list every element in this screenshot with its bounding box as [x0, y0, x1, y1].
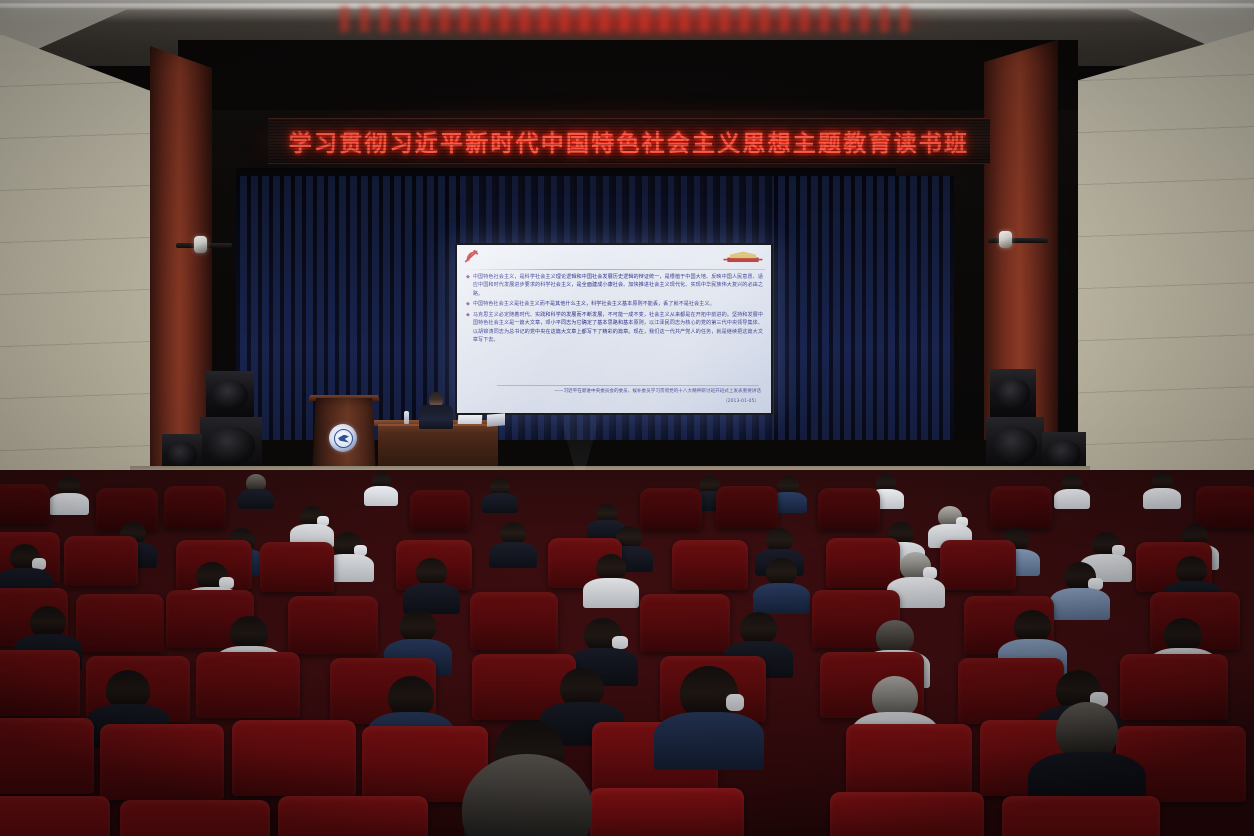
pa-speaker-right-top: [990, 369, 1036, 419]
stage-spotlight-right-icon: [999, 231, 1012, 248]
seat[interactable]: [100, 724, 224, 800]
hammer-sickle-icon: [463, 248, 480, 265]
slide-bullet: ◆ 中国特色社会主义是社会主义而不是其他什么主义，科学社会主义基本原则不能丢，丢…: [466, 300, 763, 308]
slide-citation-date: （2013-01-05）: [723, 398, 759, 404]
proscenium-header: [178, 40, 1078, 110]
stage-spotlight-left-icon: [194, 236, 207, 253]
seat[interactable]: [64, 536, 138, 586]
auditorium-scene: 学习贯彻习近平新时代中国特色社会主义思想主题教育读书班: [0, 0, 1254, 836]
seat[interactable]: [164, 486, 226, 528]
seat[interactable]: [470, 592, 558, 650]
slide-bullet: ◆ 中国特色社会主义，是科学社会主义理论逻辑和中国社会发展历史逻辑的辩证统一，是…: [466, 273, 763, 298]
bullet-text: 中国特色社会主义，是科学社会主义理论逻辑和中国社会发展历史逻辑的辩证统一，是根植…: [473, 273, 763, 298]
seat[interactable]: [990, 486, 1052, 528]
seat[interactable]: [640, 488, 702, 530]
slide-header-rule: [463, 269, 765, 270]
slide-bullet: ◆ 马克思主义必定随着时代、实践和科学的发展而不断发展，不可能一成不变，社会主义…: [466, 311, 763, 344]
seat[interactable]: [590, 788, 744, 836]
led-banner-text: 学习贯彻习近平新时代中国特色社会主义思想主题教育读书班: [289, 124, 969, 158]
seat[interactable]: [278, 796, 428, 836]
seat[interactable]: [672, 540, 748, 590]
seat[interactable]: [716, 486, 778, 528]
slide-body: ◆ 中国特色社会主义，是科学社会主义理论逻辑和中国社会发展历史逻辑的辩证统一，是…: [466, 273, 763, 347]
lighting-bar-right: [988, 238, 1048, 243]
seat[interactable]: [196, 652, 300, 718]
institutional-crest-icon: [329, 424, 357, 452]
seat[interactable]: [0, 718, 94, 794]
led-banner: 学习贯彻习近平新时代中国特色社会主义思想主题教育读书班: [268, 118, 990, 164]
seat[interactable]: [120, 800, 270, 836]
seat[interactable]: [288, 596, 378, 654]
citation-rule: [497, 385, 759, 386]
tiananmen-gate-icon: [722, 251, 764, 264]
seat[interactable]: [818, 488, 880, 530]
face-mask: [612, 636, 628, 649]
seat[interactable]: [826, 538, 900, 588]
pa-speaker-left-top: [206, 371, 254, 419]
seat[interactable]: [76, 594, 164, 652]
seat[interactable]: [640, 594, 730, 652]
seated-audience: [0, 470, 1254, 836]
stage-curtain-right-panel: [774, 176, 954, 466]
seat[interactable]: [1196, 486, 1254, 528]
seat[interactable]: [0, 796, 110, 836]
seat[interactable]: [940, 540, 1016, 590]
banner-reflection-pixels: [340, 6, 920, 32]
laptop: [487, 413, 505, 427]
slide-citation: ——习近平在新进中央委员会的委员、候补委员学习贯彻党的十八大精神研讨班开班式上发…: [487, 388, 761, 396]
face-mask: [726, 694, 744, 711]
seat[interactable]: [232, 720, 356, 796]
water-bottle: [404, 411, 409, 424]
seat[interactable]: [1002, 796, 1160, 836]
bullet-marker-icon: ◆: [466, 300, 470, 308]
seat[interactable]: [846, 724, 972, 800]
seated-speaker: [418, 392, 454, 428]
seat[interactable]: [830, 792, 984, 836]
seat[interactable]: [1120, 654, 1228, 720]
bullet-text: 中国特色社会主义是社会主义而不是其他什么主义，科学社会主义基本原则不能丢，丢了就…: [473, 300, 715, 308]
seat[interactable]: [0, 650, 80, 716]
slide-header: [457, 245, 771, 269]
seat[interactable]: [0, 484, 50, 524]
bullet-marker-icon: ◆: [466, 273, 470, 298]
bullet-text: 马克思主义必定随着时代、实践和科学的发展而不断发展，不可能一成不变，社会主义从来…: [473, 311, 763, 344]
speaker-torso: [419, 405, 453, 429]
bullet-marker-icon: ◆: [466, 311, 470, 344]
seat[interactable]: [260, 542, 334, 592]
seat[interactable]: [410, 490, 470, 530]
projection-screen: ◆ 中国特色社会主义，是科学社会主义理论逻辑和中国社会发展历史逻辑的辩证统一，是…: [455, 243, 773, 415]
nameplate: [458, 415, 483, 424]
